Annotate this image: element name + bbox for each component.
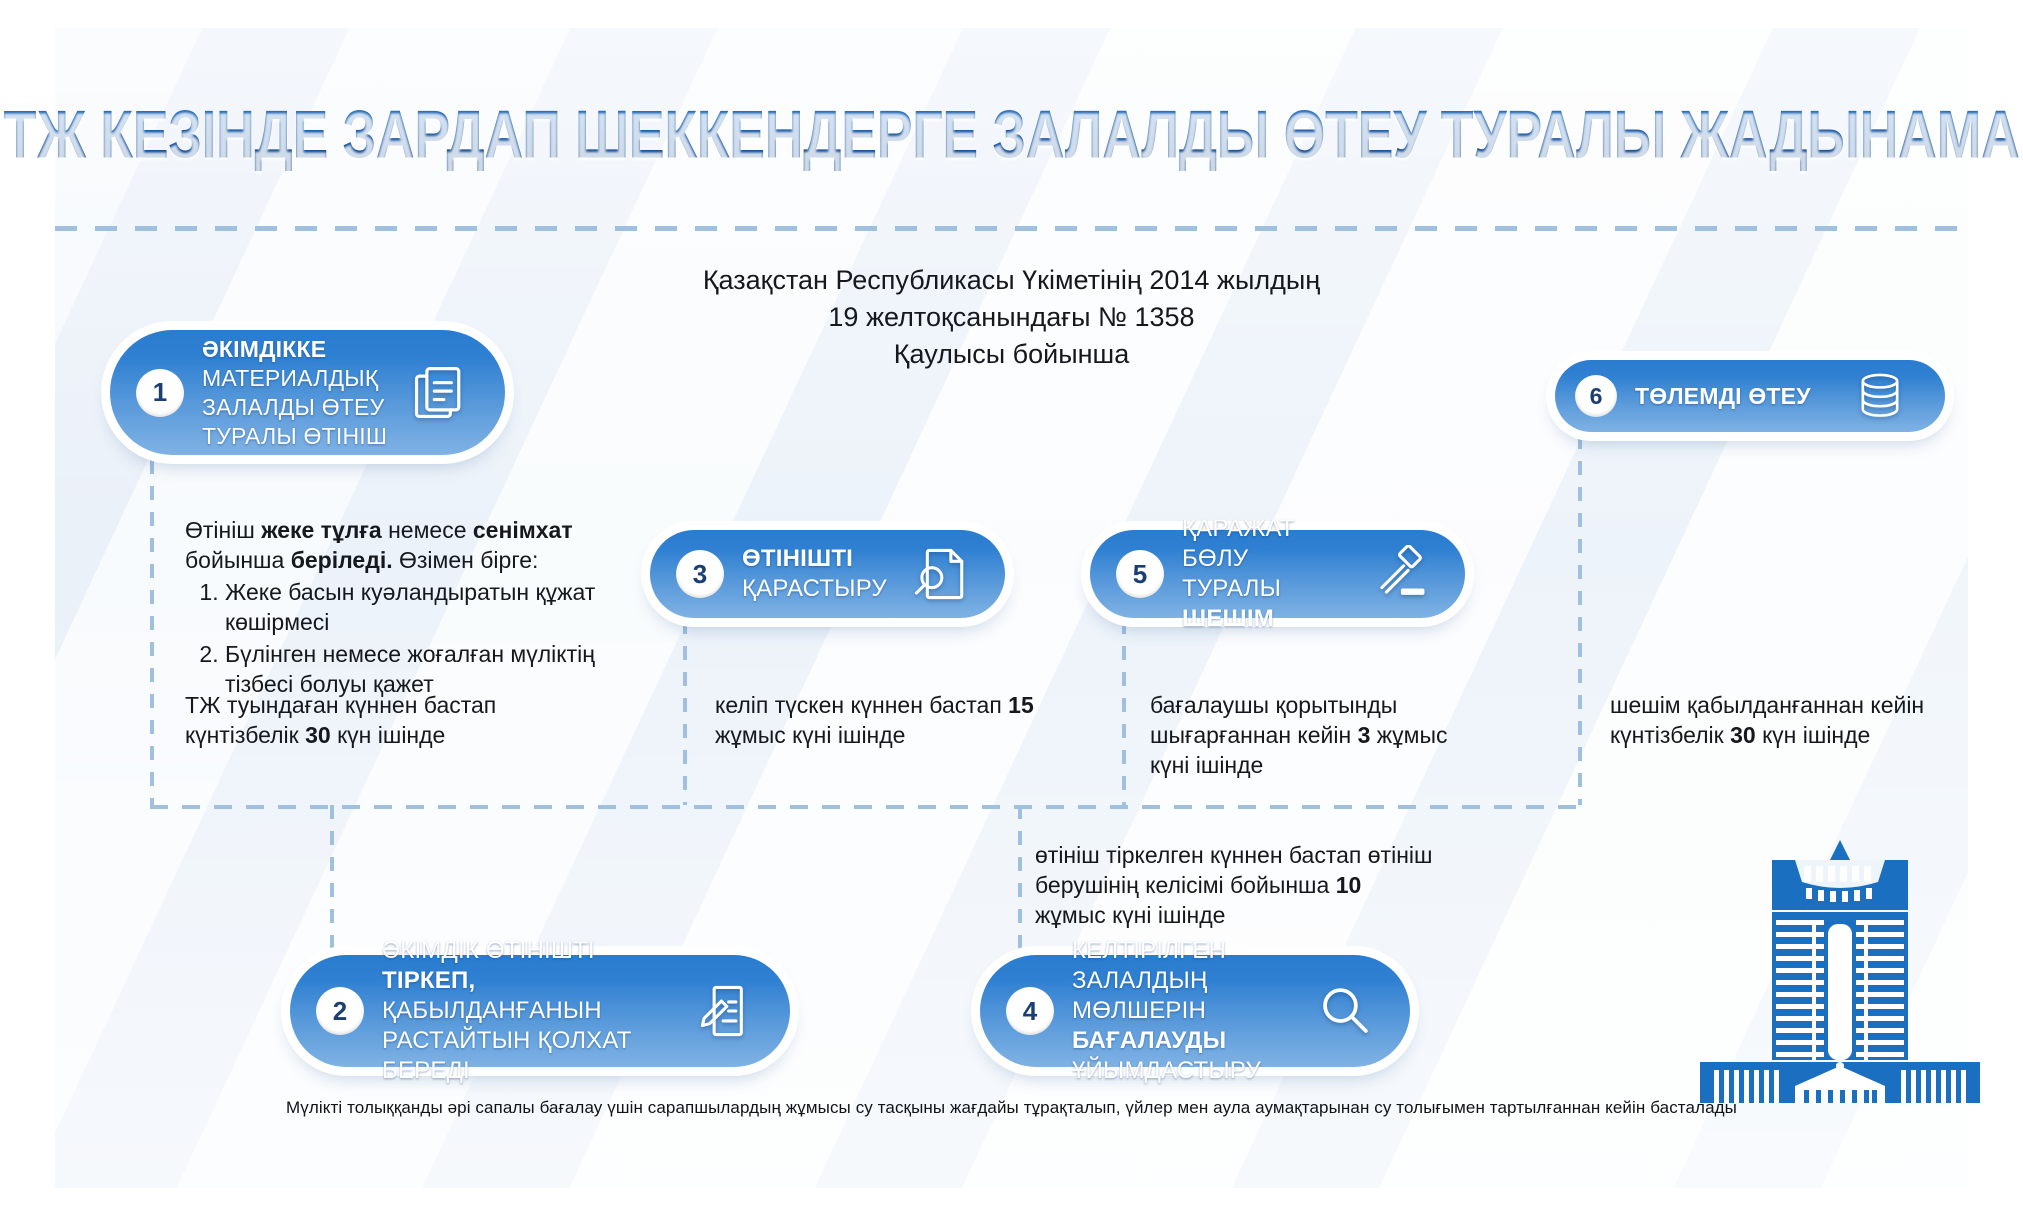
connector-box6-down — [1578, 435, 1582, 805]
step-2-number: 2 — [316, 987, 364, 1035]
step-4-timing: өтініш тіркелген күннен бастап өтініш бе… — [1035, 840, 1435, 930]
page-title: ТЖ КЕЗІНДЕ ЗАРДАП ШЕККЕНДЕРГЕ ЗАЛАЛДЫ ӨТ… — [0, 96, 2023, 174]
step-5-number: 5 — [1116, 550, 1164, 598]
connector-main-bus — [150, 805, 1580, 809]
requirements-list: Жеке басын куәландыратын құжат көшірмесі… — [185, 577, 635, 699]
step-6-timing: шешім қабылданғаннан кейін күнтізбелік 3… — [1610, 690, 1950, 750]
step-3-label: ӨТІНІШТІ ҚАРАСТЫРУ — [742, 544, 893, 604]
connector-box1-down — [150, 460, 154, 805]
step-4-box[interactable]: 4 КЕЛТІРІЛГЕН ЗАЛАЛДЫҢ МӨЛШЕРІН БАҒАЛАУД… — [980, 955, 1410, 1067]
step-1-timing: ТЖ туындаған күннен бастап күнтізбелік 3… — [185, 690, 515, 750]
step-5-timing: бағалаушы қорытынды шығарғаннан кейін 3 … — [1150, 690, 1490, 780]
step-1-number: 1 — [136, 369, 184, 417]
infographic-canvas: ТЖ КЕЗІНДЕ ЗАРДАП ШЕККЕНДЕРГЕ ЗАЛАЛДЫ ӨТ… — [0, 0, 2023, 1216]
connector-box3-down — [683, 620, 687, 805]
title-divider — [55, 226, 1968, 231]
step-1-box[interactable]: 1 ӘКІМДІККЕ МАТЕРИАЛДЫҚ ЗАЛАЛДЫ ӨТЕУ ТУР… — [110, 330, 505, 455]
government-building-icon — [1700, 838, 1980, 1103]
coin-stack-icon — [1845, 361, 1915, 431]
step-4-number: 4 — [1006, 987, 1054, 1035]
step-3-box[interactable]: 3 ӨТІНІШТІ ҚАРАСТЫРУ — [650, 530, 1005, 618]
magnifier-icon — [1310, 976, 1380, 1046]
step-6-label: ТӨЛЕМДІ ӨТЕУ — [1635, 381, 1833, 411]
step-4-label: КЕЛТІРІЛГЕН ЗАЛАЛДЫҢ МӨЛШЕРІН БАҒАЛАУДЫ … — [1072, 936, 1298, 1086]
subtitle-line-1: Қазақстан Республикасы Үкіметінің 2014 ж… — [0, 262, 2023, 299]
requirements-item: Жеке басын куәландыратын құжат көшірмесі — [225, 577, 635, 637]
step-5-box[interactable]: 5 ҚАРАЖАТ БӨЛУ ТУРАЛЫ ШЕШІМ — [1090, 530, 1465, 618]
step-1-label: ӘКІМДІККЕ МАТЕРИАЛДЫҚ ЗАЛАЛДЫ ӨТЕУ ТУРАЛ… — [202, 335, 393, 451]
documents-icon — [405, 358, 475, 428]
connector-box4-down — [1018, 805, 1022, 955]
step-5-label: ҚАРАЖАТ БӨЛУ ТУРАЛЫ ШЕШІМ — [1182, 514, 1353, 634]
document-search-icon — [905, 539, 975, 609]
footer-note: Мүлікті толыққанды әрі сапалы бағалау үш… — [0, 1098, 2023, 1118]
connector-box5-down — [1122, 620, 1126, 805]
requirements-block: Өтініш жеке тұлға немесе сенімхат бойынш… — [185, 515, 635, 701]
step-2-label: ӘКІМДІК ӨТІНІШТІ ТІРКЕП, ҚАБЫЛДАНҒАНЫН Р… — [382, 936, 678, 1086]
step-2-box[interactable]: 2 ӘКІМДІК ӨТІНІШТІ ТІРКЕП, ҚАБЫЛДАНҒАНЫН… — [290, 955, 790, 1067]
step-6-box[interactable]: 6 ТӨЛЕМДІ ӨТЕУ — [1555, 360, 1945, 432]
gavel-icon — [1365, 539, 1435, 609]
requirements-intro: Өтініш жеке тұлға немесе сенімхат бойынш… — [185, 515, 635, 575]
step-3-number: 3 — [676, 550, 724, 598]
step-6-number: 6 — [1575, 375, 1617, 417]
signed-form-icon — [690, 976, 760, 1046]
connector-box2-down — [330, 805, 334, 955]
step-3-timing: келіп түскен күннен бастап 15 жұмыс күні… — [715, 690, 1045, 750]
